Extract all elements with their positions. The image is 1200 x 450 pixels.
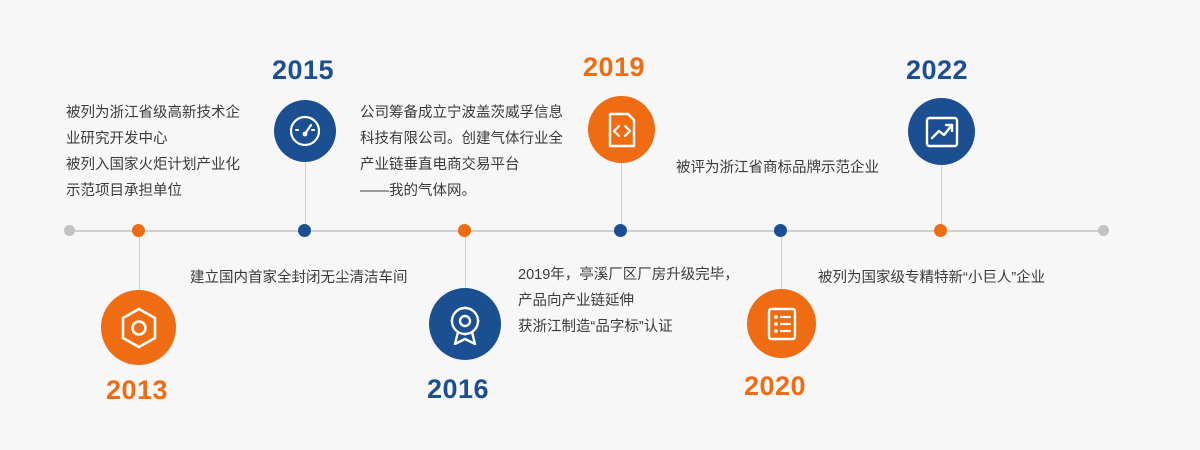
timeline-end-cap: [1098, 225, 1109, 236]
timeline-dot-2015[interactable]: [298, 224, 311, 237]
timeline-dot-2020[interactable]: [774, 224, 787, 237]
milestone-year-2013: 2013: [106, 375, 168, 406]
milestone-text-2022: 被列为国家级专精特新“小巨人”企业: [818, 265, 1158, 291]
chart-growth-icon: [924, 114, 960, 150]
milestone-year-2015: 2015: [272, 55, 334, 86]
milestone-text-2016: 公司筹备成立宁波盖茨威孚信息 科技有限公司。创建气体行业全 产业链垂直电商交易平…: [360, 100, 600, 204]
code-document-icon: [604, 111, 640, 149]
milestone-text-2015: 建立国内首家全封闭无尘清洁车间: [190, 265, 490, 291]
milestone-icon-2019[interactable]: [588, 96, 655, 163]
timeline-dot-2016[interactable]: [458, 224, 471, 237]
timeline-start-cap: [64, 225, 75, 236]
list-document-icon: [765, 306, 799, 342]
milestone-icon-2022[interactable]: [908, 98, 975, 165]
milestone-year-2020: 2020: [744, 371, 806, 402]
milestone-year-2022: 2022: [906, 55, 968, 86]
milestone-icon-2016[interactable]: [429, 288, 501, 360]
badge-gear-icon: [445, 303, 485, 345]
milestone-year-2016: 2016: [427, 374, 489, 405]
milestone-icon-2013[interactable]: [101, 290, 176, 365]
timeline-dot-2013[interactable]: [132, 224, 145, 237]
hexagon-gear-icon: [119, 307, 159, 349]
milestone-icon-2020[interactable]: [747, 289, 816, 358]
milestone-icon-2015[interactable]: [274, 100, 336, 162]
milestone-text-2013: 被列为浙江省级高新技术企 业研究开发中心 被列入国家火炬计划产业化 示范项目承担…: [66, 100, 271, 204]
stem-2019: [621, 160, 622, 227]
timeline-dot-2022[interactable]: [934, 224, 947, 237]
milestone-year-2019: 2019: [583, 52, 645, 83]
stem-2015: [305, 155, 306, 227]
timeline-axis: [68, 230, 1108, 232]
timeline-diagram: 2013 被列为浙江省级高新技术企 业研究开发中心 被列入国家火炬计划产业化 示…: [0, 0, 1200, 450]
gauge-icon: [288, 114, 322, 148]
timeline-dot-2019[interactable]: [614, 224, 627, 237]
